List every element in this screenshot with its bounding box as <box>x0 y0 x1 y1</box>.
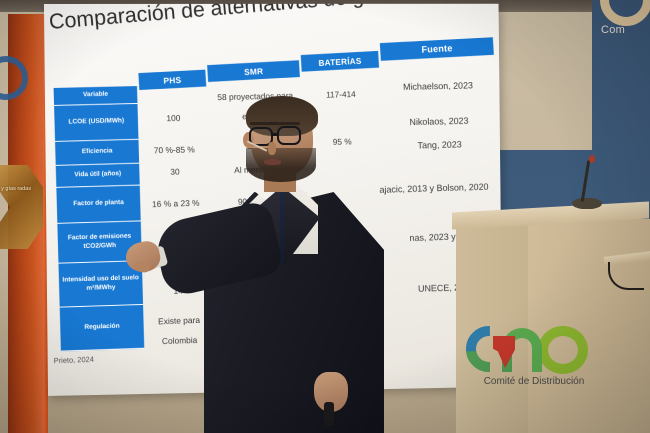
cell-fuente-lcoe: Michaelson, 2023 <box>381 80 494 92</box>
row-label-text: Vida útil (años) <box>74 170 121 180</box>
row-label-text: Variable <box>83 91 108 100</box>
table-row-label: Eficiencia <box>55 140 139 166</box>
presenter-mouth <box>264 159 281 165</box>
table-row-label: Regulación <box>60 305 145 352</box>
presentation-photo-scene: Com s y gías radas Comparación de altern… <box>0 0 650 433</box>
presenter-nose <box>268 142 276 155</box>
cno-logo: Comité de Distribución <box>466 324 592 376</box>
table-row-label: LCOE (USD/MWh) <box>54 104 138 142</box>
row-label-text: Factor de planta <box>73 199 124 209</box>
row-label-text: Eficiencia <box>82 148 113 157</box>
banner-text: s y gías radas <box>0 186 34 193</box>
table-header-baterias: BATERÍAS <box>301 51 379 72</box>
cno-logo-o-icon <box>538 326 588 374</box>
glasses-bridge <box>272 133 278 136</box>
glasses-right-lens-icon <box>277 126 301 145</box>
presenter-beard <box>246 148 316 182</box>
table-header-fuente: Fuente <box>380 37 494 61</box>
presenter <box>196 96 426 433</box>
row-label-text: Regulación <box>84 323 120 333</box>
slide-footnote: Prieto, 2024 <box>54 355 95 366</box>
table-row-label: Factor de planta <box>56 186 140 224</box>
table-row-label: Variable <box>54 86 138 106</box>
table-row-label: Vida útil (años) <box>56 164 140 188</box>
table-header-phs: PHS <box>138 70 206 90</box>
row-label-text-2: tCO2/GWh <box>83 242 116 251</box>
microphone-head-icon <box>589 155 595 163</box>
presentation-clicker <box>324 402 334 426</box>
slide-title: Comparación de alternativas de generació… <box>48 4 488 35</box>
cno-logo-caption: Comité de Distribución <box>464 376 604 387</box>
table-header-smr: SMR <box>207 60 300 82</box>
comparison-table: PHS SMR BATERÍAS Fuente Variable LCOE (U… <box>50 35 491 44</box>
presenter-eyebrows <box>250 122 300 125</box>
navy-panel-caption: Com <box>601 24 650 36</box>
microphone-base <box>572 198 602 209</box>
row-label-text: LCOE (USD/MWh) <box>68 117 124 127</box>
row-label-text-2: m²/MWhy <box>86 283 115 292</box>
